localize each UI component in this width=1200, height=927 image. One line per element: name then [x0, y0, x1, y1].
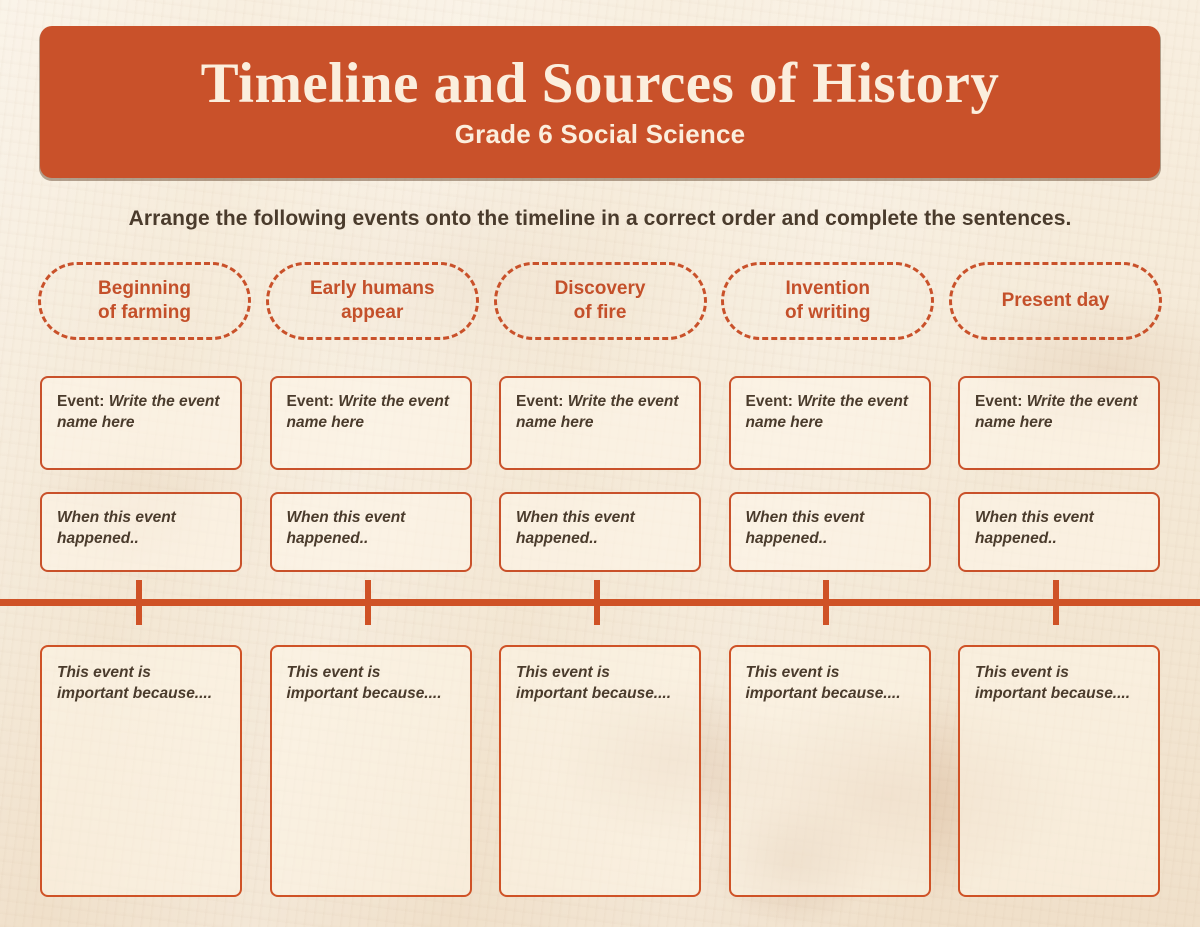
event-label: Event: [57, 393, 104, 410]
when-placeholder: When this event happened.. [516, 509, 635, 547]
why-placeholder: This event is important because.... [516, 664, 671, 702]
event-label: Event: [516, 393, 563, 410]
event-importance-field-2[interactable]: This event is important because.... [270, 645, 472, 897]
event-name-field-2[interactable]: Event: Write the event name here [270, 376, 472, 470]
event-importance-field-1[interactable]: This event is important because.... [40, 645, 242, 897]
page-title: Timeline and Sources of History [201, 54, 1000, 114]
why-placeholder: This event is important because.... [975, 664, 1130, 702]
timeline-tick-3 [594, 580, 600, 625]
timeline-axis [0, 599, 1200, 606]
timeline-tick-5 [1053, 580, 1059, 625]
when-placeholder: When this event happened.. [975, 509, 1094, 547]
event-chips-row: Beginning of farming Early humans appear… [38, 262, 1162, 342]
instruction-text: Arrange the following events onto the ti… [0, 207, 1200, 231]
event-chip-beginning-of-farming[interactable]: Beginning of farming [38, 262, 251, 340]
event-chip-discovery-of-fire[interactable]: Discovery of fire [494, 262, 707, 340]
event-date-field-4[interactable]: When this event happened.. [729, 492, 931, 572]
answer-columns: Event: Write the event name here When th… [40, 376, 1160, 572]
timeline-tick-1 [136, 580, 142, 625]
event-date-field-2[interactable]: When this event happened.. [270, 492, 472, 572]
when-placeholder: When this event happened.. [746, 509, 865, 547]
timeline-column-2: Event: Write the event name here When th… [270, 376, 472, 572]
timeline-column-1: Event: Write the event name here When th… [40, 376, 242, 572]
event-name-field-4[interactable]: Event: Write the event name here [729, 376, 931, 470]
event-chip-invention-of-writing[interactable]: Invention of writing [721, 262, 934, 340]
importance-row: This event is important because.... This… [40, 645, 1160, 897]
timeline-tick-2 [365, 580, 371, 625]
page-subtitle: Grade 6 Social Science [455, 119, 746, 150]
event-name-field-1[interactable]: Event: Write the event name here [40, 376, 242, 470]
event-chip-present-day[interactable]: Present day [949, 262, 1162, 340]
event-label: Event: [975, 393, 1022, 410]
when-placeholder: When this event happened.. [57, 509, 176, 547]
timeline-column-3: Event: Write the event name here When th… [499, 376, 701, 572]
worksheet-content: Timeline and Sources of History Grade 6 … [0, 0, 1200, 927]
why-placeholder: This event is important because.... [746, 664, 901, 702]
event-chip-line2: of fire [555, 301, 646, 325]
event-name-field-3[interactable]: Event: Write the event name here [499, 376, 701, 470]
timeline-column-4: Event: Write the event name here When th… [729, 376, 931, 572]
event-chip-line2: appear [310, 301, 435, 325]
event-chip-line1: Present day [1002, 289, 1110, 313]
event-label: Event: [287, 393, 334, 410]
event-date-field-1[interactable]: When this event happened.. [40, 492, 242, 572]
event-importance-field-5[interactable]: This event is important because.... [958, 645, 1160, 897]
why-placeholder: This event is important because.... [57, 664, 212, 702]
event-chip-line1: Discovery [555, 277, 646, 301]
event-name-field-5[interactable]: Event: Write the event name here [958, 376, 1160, 470]
event-chip-early-humans-appear[interactable]: Early humans appear [266, 262, 479, 340]
event-label: Event: [746, 393, 793, 410]
event-chip-line2: of farming [98, 301, 191, 325]
event-date-field-5[interactable]: When this event happened.. [958, 492, 1160, 572]
event-chip-line2: of writing [785, 301, 870, 325]
event-importance-field-3[interactable]: This event is important because.... [499, 645, 701, 897]
timeline-column-5: Event: Write the event name here When th… [958, 376, 1160, 572]
when-placeholder: When this event happened.. [287, 509, 406, 547]
why-placeholder: This event is important because.... [287, 664, 442, 702]
event-chip-line1: Early humans [310, 277, 435, 301]
event-chip-line1: Invention [785, 277, 870, 301]
event-importance-field-4[interactable]: This event is important because.... [729, 645, 931, 897]
event-chip-line1: Beginning [98, 277, 191, 301]
timeline-tick-4 [823, 580, 829, 625]
event-date-field-3[interactable]: When this event happened.. [499, 492, 701, 572]
header-banner: Timeline and Sources of History Grade 6 … [40, 26, 1160, 178]
